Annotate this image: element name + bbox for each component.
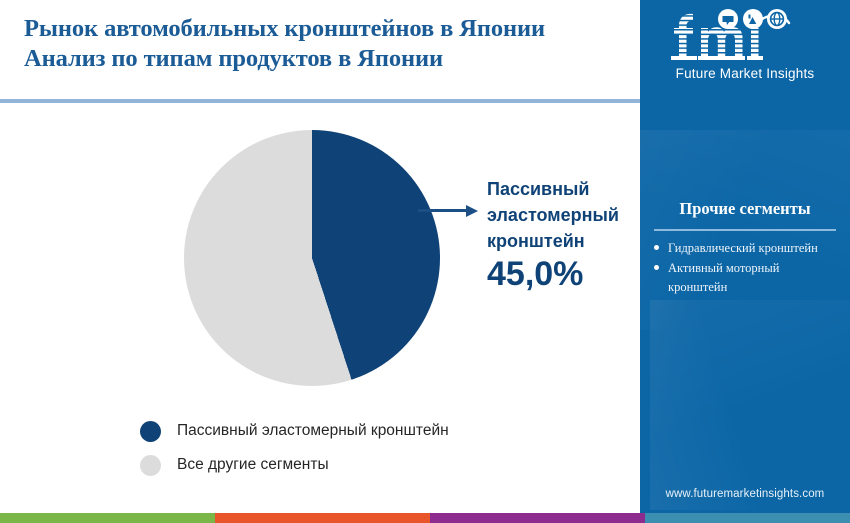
other-segments-panel: Прочие сегменты Гидравлический кронштейн…	[640, 198, 850, 298]
legend-label-1: Все другие сегменты	[177, 456, 329, 474]
globe-icon	[767, 9, 787, 29]
other-segments-list: Гидравлический кронштейн Активный моторн…	[640, 239, 850, 297]
callout-label-line-1: Пассивный	[487, 176, 637, 202]
slide-canvas: Рынок автомобильных кронштейнов в Японии…	[0, 0, 850, 523]
pie-slices	[184, 130, 440, 386]
fmi-logo-mark	[665, 6, 825, 64]
chart-icon	[743, 9, 763, 29]
title-line-1: Рынок автомобильных кронштейнов в Японии	[24, 14, 624, 44]
other-segment-label-0: Гидравлический кронштейн	[668, 241, 818, 255]
fmi-wordmark-icon	[665, 6, 825, 64]
chart-legend: Пассивный эластомерный кронштейн Все дру…	[140, 414, 449, 482]
main-content-area: Рынок автомобильных кронштейнов в Японии…	[0, 0, 640, 505]
arrow-shaft	[418, 209, 468, 212]
brand-sidebar: Future Market Insights Прочие сегменты Г…	[640, 0, 850, 513]
legend-swatch-icon-0	[140, 421, 161, 442]
chat-icon	[718, 9, 738, 29]
bottom-color-bar	[0, 513, 850, 523]
legend-label-0: Пассивный эластомерный кронштейн	[177, 422, 449, 440]
bar-segment-teal	[645, 513, 850, 523]
callout-arrow-icon	[418, 205, 480, 217]
other-segments-title: Прочие сегменты	[640, 198, 850, 220]
legend-item-others: Все другие сегменты	[140, 448, 449, 482]
header-divider	[0, 99, 640, 103]
bar-segment-purple	[430, 513, 645, 523]
bullet-icon	[654, 245, 659, 250]
pie-chart	[184, 130, 440, 386]
title-line-2: Анализ по типам продуктов в Японии	[24, 44, 624, 74]
pie-callout: Пассивный эластомерный кронштейн 45,0%	[487, 176, 637, 293]
bar-segment-green	[0, 513, 215, 523]
legend-item-passive: Пассивный эластомерный кронштейн	[140, 414, 449, 448]
bullet-icon	[654, 265, 659, 270]
other-segments-divider	[654, 229, 836, 231]
legend-swatch-icon-1	[140, 455, 161, 476]
callout-label-line-2: эластомерный	[487, 202, 637, 228]
fmi-logo: Future Market Insights	[640, 6, 850, 81]
bar-segment-orange	[215, 513, 430, 523]
list-item: Активный моторный кронштейн	[668, 259, 840, 297]
logo-tagline: Future Market Insights	[640, 66, 850, 81]
list-item: Гидравлический кронштейн	[668, 239, 840, 258]
callout-value: 45,0%	[487, 255, 637, 293]
website-url[interactable]: www.futuremarketinsights.com	[640, 488, 850, 500]
page-title: Рынок автомобильных кронштейнов в Японии…	[24, 14, 624, 74]
other-segment-label-1: Активный моторный кронштейн	[668, 261, 779, 294]
callout-label-line-3: кронштейн	[487, 228, 637, 254]
arrow-head	[466, 205, 478, 217]
